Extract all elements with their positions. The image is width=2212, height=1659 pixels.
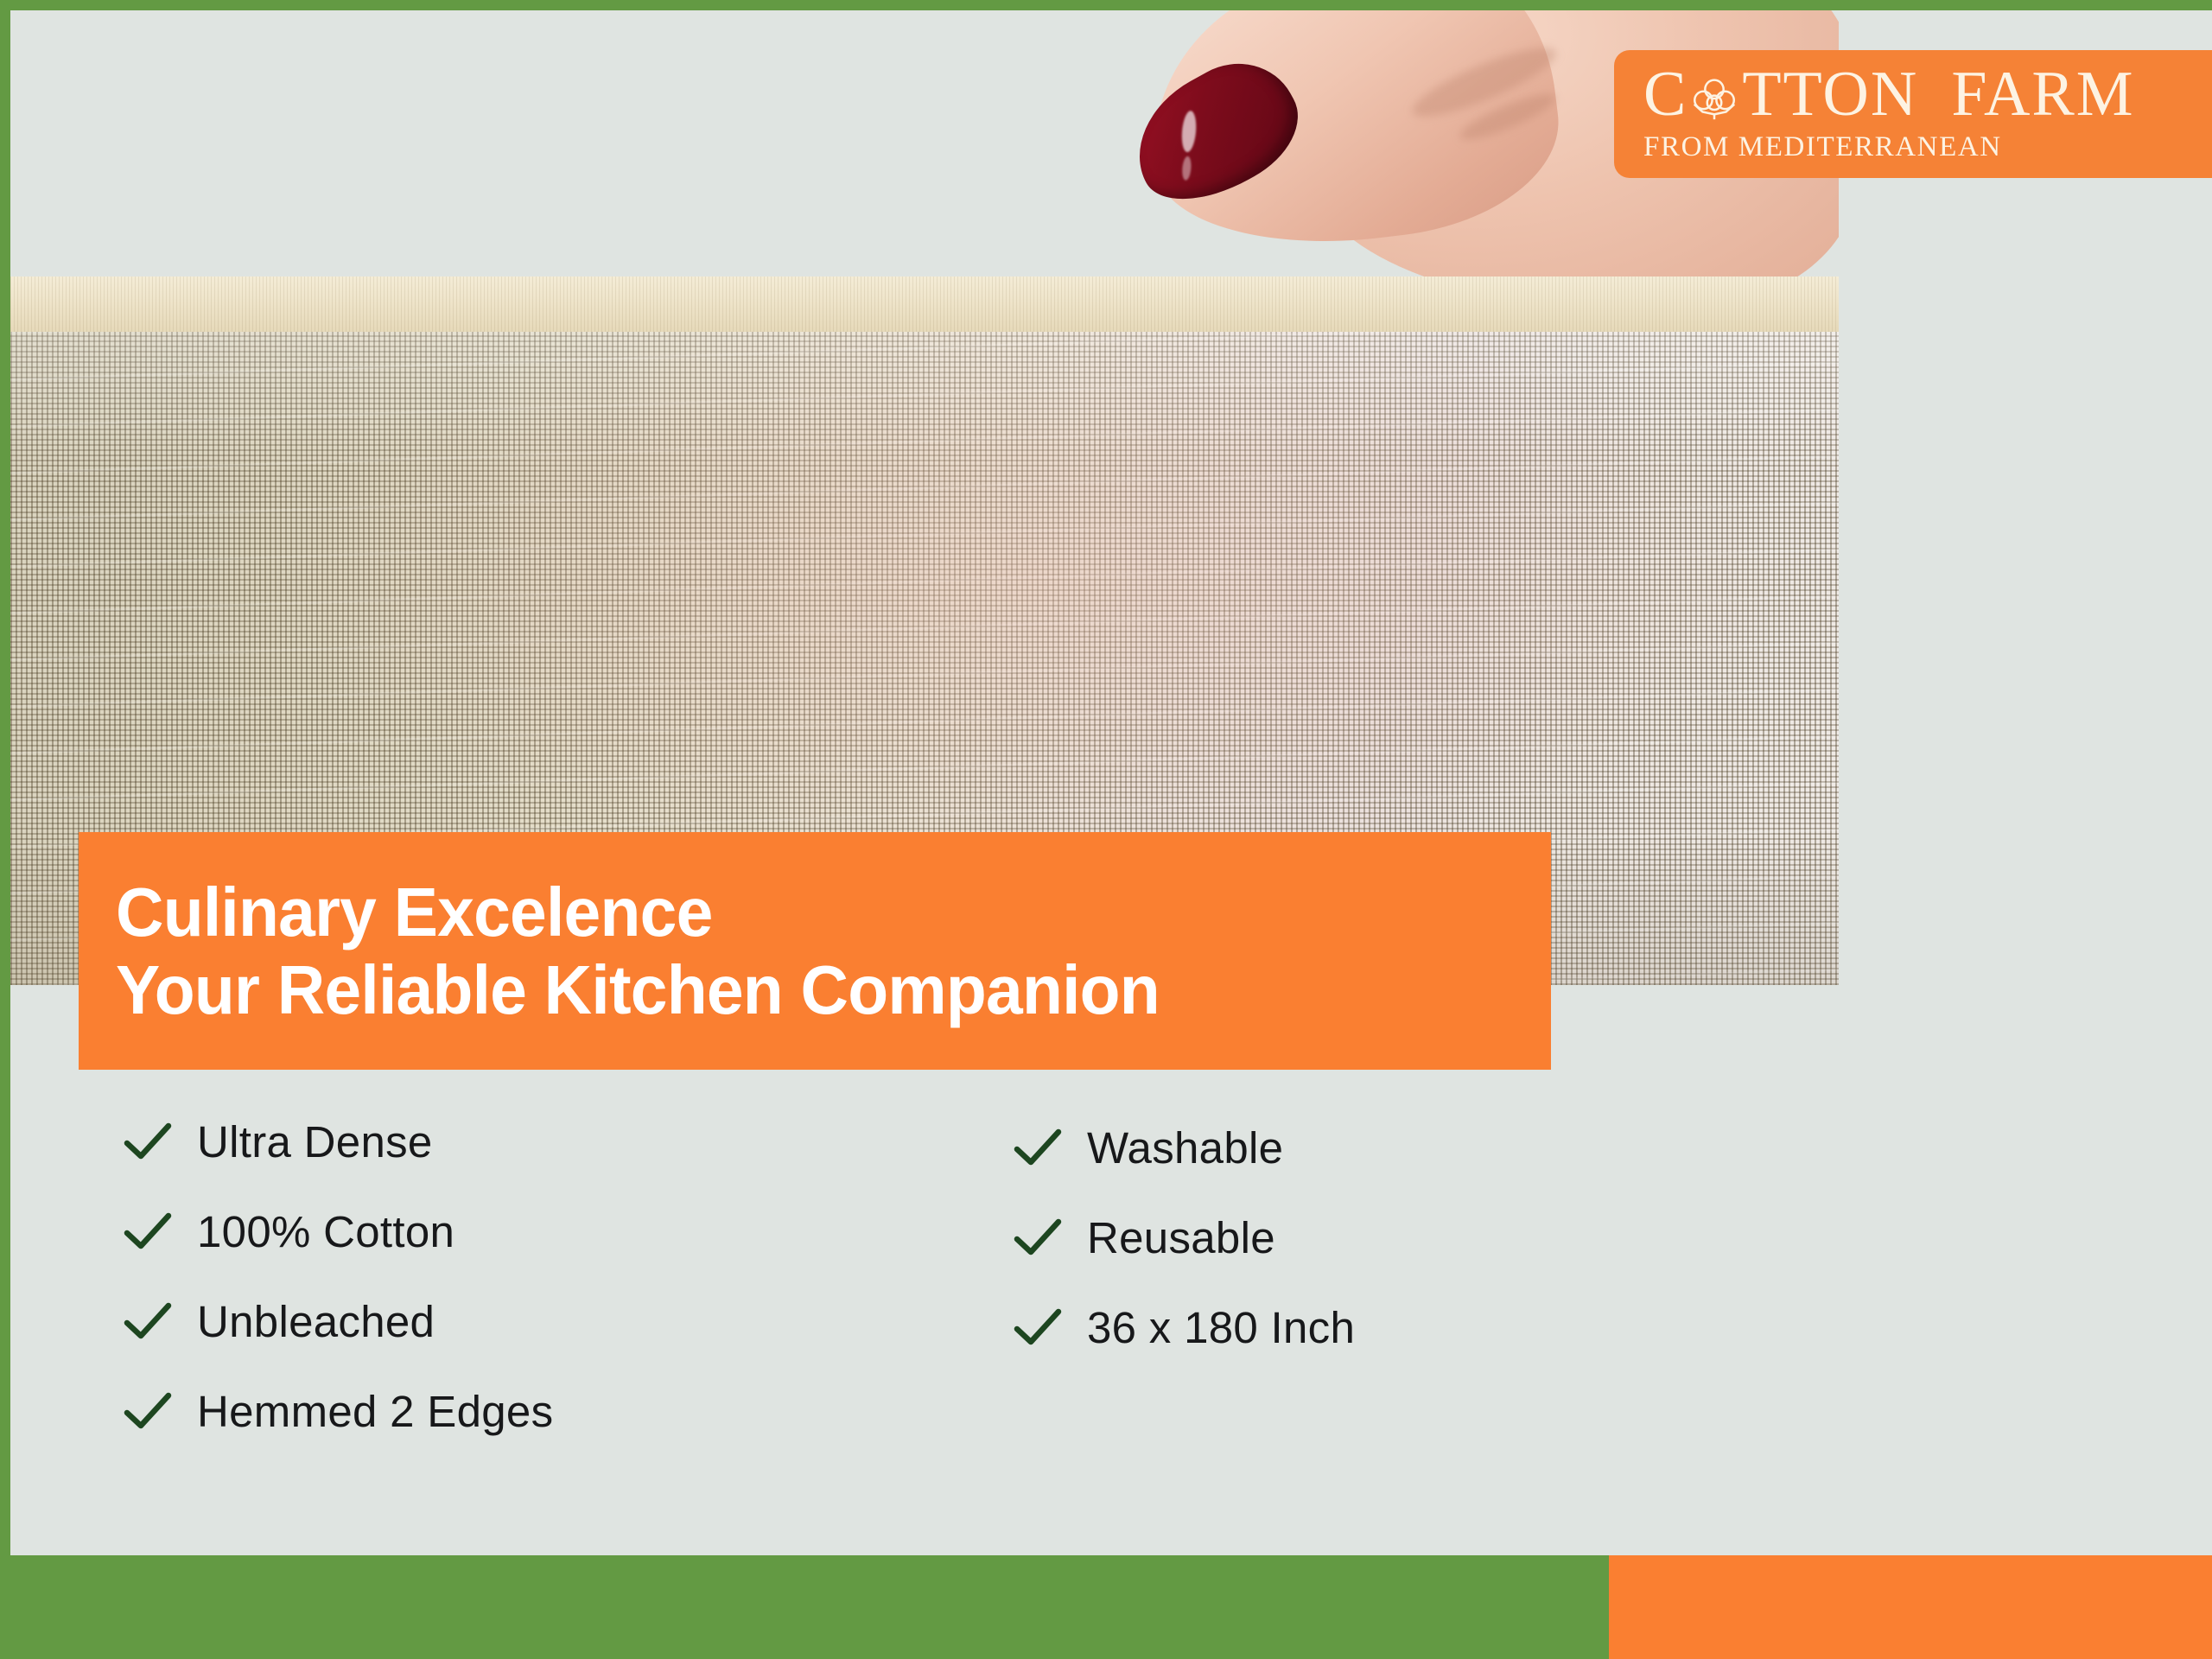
check-icon	[121, 1118, 175, 1165]
feature-label: Reusable	[1087, 1212, 1275, 1263]
feature-label: Washable	[1087, 1122, 1283, 1173]
cotton-boll-icon	[1688, 71, 1741, 124]
bottom-orange-block	[1609, 1555, 2212, 1659]
feature-item: 36 x 180 Inch	[1011, 1300, 1875, 1354]
nail-highlight-secondary	[1181, 156, 1192, 181]
check-icon	[121, 1298, 175, 1344]
feature-item: 100% Cotton	[121, 1205, 1011, 1258]
feature-label: Ultra Dense	[197, 1116, 433, 1167]
feature-item: Hemmed 2 Edges	[121, 1384, 1011, 1438]
check-icon	[121, 1388, 175, 1434]
feature-label: 100% Cotton	[197, 1206, 454, 1257]
painted-fingernail	[1114, 41, 1317, 223]
feature-list: Ultra Dense 100% Cotton Unbleached	[121, 1115, 2022, 1438]
product-poster: C TTON FARM FROM MEDITERRANEAN	[0, 0, 2212, 1659]
brand-name-farm: FARM	[1951, 62, 2134, 126]
headline-line-1: Culinary Excelence	[116, 874, 1494, 951]
feature-label: Hemmed 2 Edges	[197, 1386, 553, 1437]
brand-name: C TTON FARM	[1643, 62, 2212, 126]
check-icon	[1011, 1304, 1065, 1351]
feature-column-right: Washable Reusable 36 x 180 Inch	[1011, 1115, 1875, 1438]
feature-label: Unbleached	[197, 1296, 435, 1347]
feature-item: Ultra Dense	[121, 1115, 1011, 1168]
feature-column-left: Ultra Dense 100% Cotton Unbleached	[121, 1115, 1011, 1438]
headline-banner: Culinary Excelence Your Reliable Kitchen…	[79, 832, 1551, 1070]
feature-item: Washable	[1011, 1121, 1875, 1174]
check-icon	[121, 1208, 175, 1255]
nail-highlight	[1180, 111, 1198, 153]
check-icon	[1011, 1124, 1065, 1171]
feature-label: 36 x 180 Inch	[1087, 1302, 1355, 1353]
brand-name-cotton-rest: TTON	[1742, 62, 1918, 126]
brand-tagline: FROM MEDITERRANEAN	[1643, 131, 2212, 163]
headline-line-2: Your Reliable Kitchen Companion	[116, 951, 1494, 1029]
feature-item: Reusable	[1011, 1211, 1875, 1264]
feature-item: Unbleached	[121, 1294, 1011, 1348]
cheesecloth-hem-band	[10, 276, 1839, 332]
check-icon	[1011, 1214, 1065, 1261]
brand-name-letter-c: C	[1643, 62, 1688, 126]
brand-logo-badge: C TTON FARM FROM MEDITERRANEAN	[1614, 50, 2212, 178]
